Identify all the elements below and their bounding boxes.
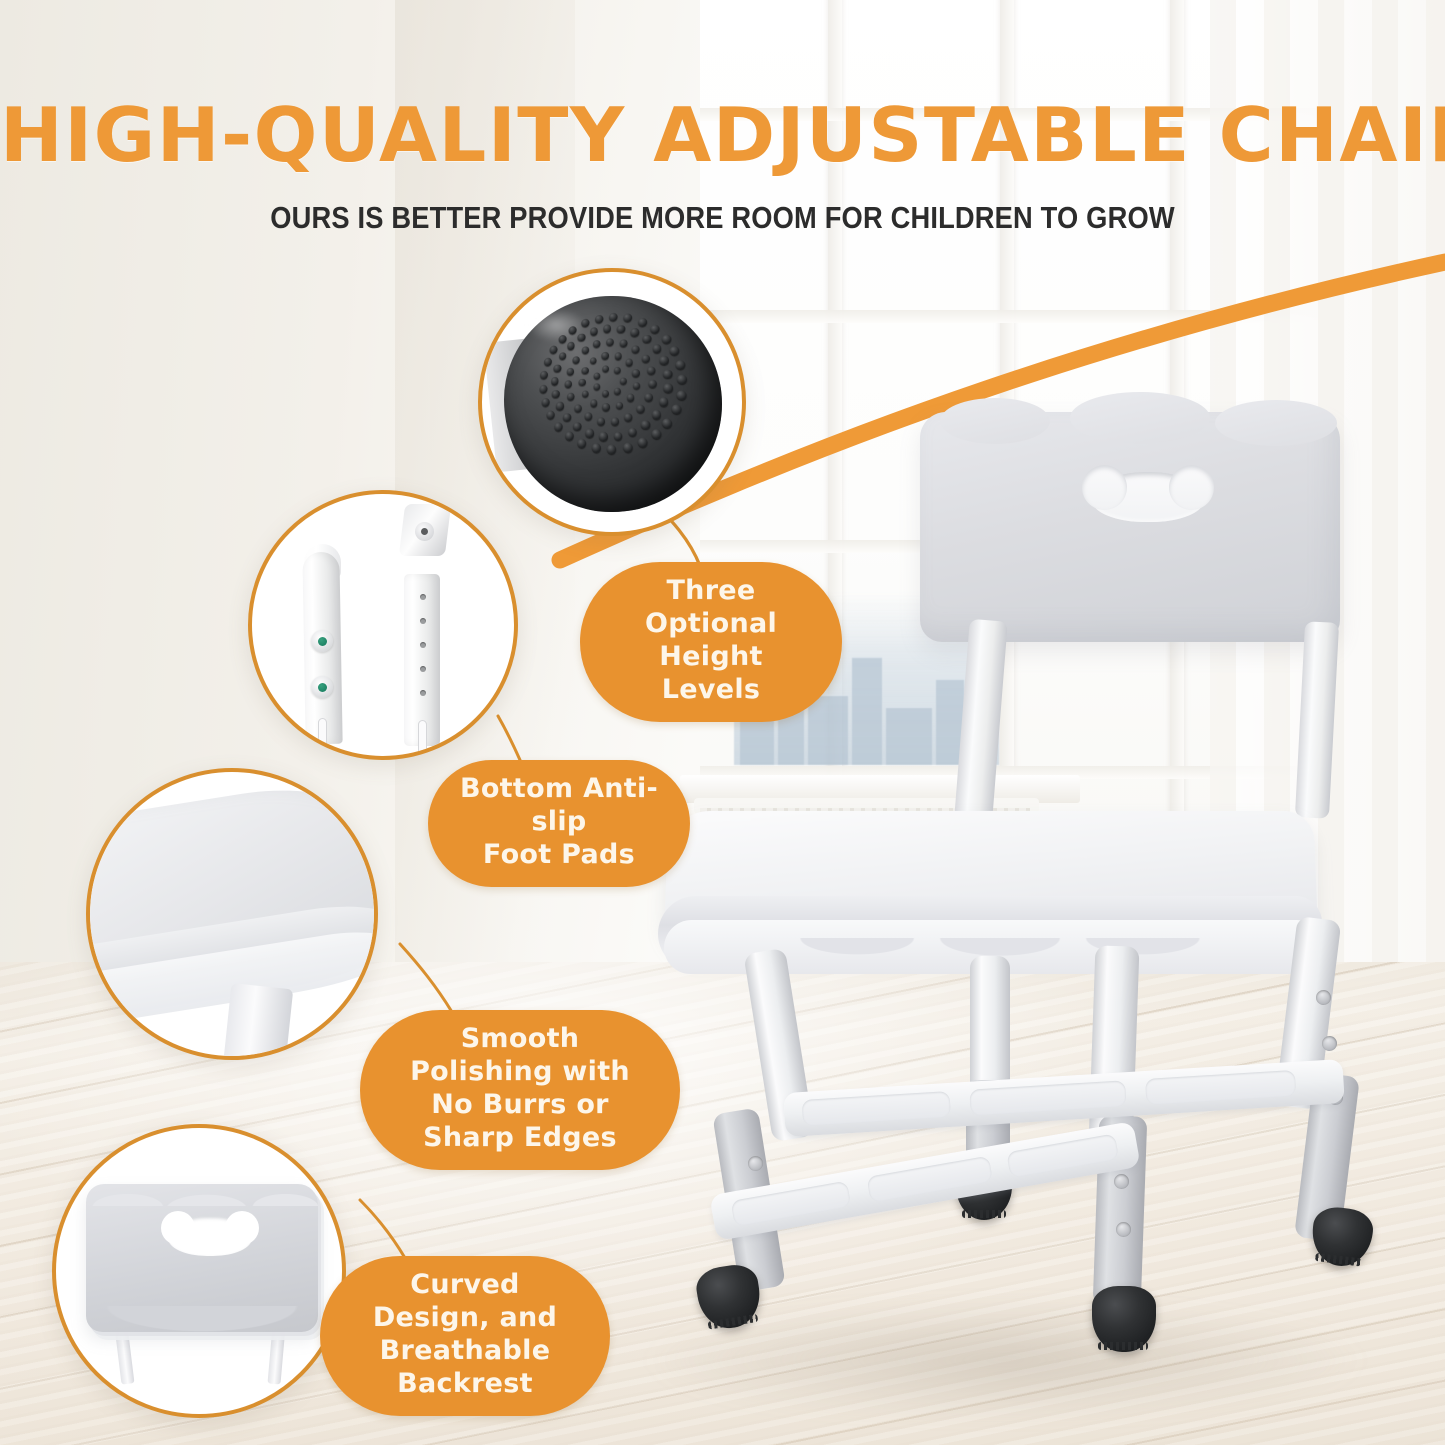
grip-dot [563, 413, 571, 421]
backrest-post-left [954, 619, 1008, 821]
grip-dot [675, 360, 685, 370]
product-chair [640, 390, 1430, 1430]
foot-pad-front-right [1092, 1286, 1156, 1352]
grip-dot [572, 356, 579, 364]
grip-dot [559, 352, 567, 360]
grip-dot [676, 390, 686, 400]
grip-dot [595, 314, 603, 323]
grip-dot [558, 335, 566, 344]
callout-curved-backrest[interactable]: Curved Design, and Breathable Backrest [320, 1256, 610, 1416]
grip-dot [651, 429, 661, 439]
grip-dot [593, 340, 601, 348]
grip-dot [624, 314, 633, 323]
grip-dot [642, 335, 651, 344]
grip-dot [616, 401, 624, 409]
grip-dot [619, 377, 626, 384]
grip-dot [614, 352, 621, 360]
grip-dot [614, 387, 621, 394]
grip-dot [566, 368, 573, 376]
grip-dot [652, 410, 661, 419]
detail-circle-foot-pad [478, 268, 746, 536]
grip-dot [567, 393, 575, 401]
grip-dot [630, 328, 639, 337]
grip-dot [647, 366, 656, 374]
grip-dot [597, 417, 605, 425]
grip-dot [603, 365, 610, 372]
grip-dot [671, 405, 681, 415]
grip-dot [660, 356, 669, 365]
grip-dot [578, 439, 587, 449]
grip-dot [590, 357, 597, 364]
grip-dot [661, 334, 671, 343]
cross-rail-back [783, 1059, 1345, 1137]
grip-dot [628, 428, 637, 437]
grip-dot [567, 342, 575, 350]
grip-dot [555, 422, 564, 431]
grip-dot [636, 405, 644, 413]
cross-rail-front [709, 1121, 1140, 1241]
grip-dot [641, 420, 650, 429]
grip-dot [581, 319, 589, 328]
grip-dot [565, 380, 572, 388]
grip-dot [652, 344, 661, 353]
grip-dot [623, 443, 632, 453]
grip-dot [606, 338, 614, 346]
grip-dot [663, 418, 673, 428]
grip-dot [625, 413, 633, 421]
edge-leg [221, 983, 294, 1056]
grip-dot [550, 346, 558, 355]
grip-dot [632, 369, 640, 377]
grip-dot [579, 379, 586, 386]
chair-backrest [920, 412, 1340, 642]
grip-dot [556, 402, 564, 410]
grip-dot [581, 347, 588, 355]
backrest-cutout-closeup [168, 1216, 252, 1256]
grip-dot [541, 398, 549, 407]
callout-anti-slip-pads[interactable]: Bottom Anti-slip Foot Pads [428, 760, 690, 887]
tube-slot-left [318, 718, 327, 756]
grip-dot [593, 383, 600, 390]
grip-dot [638, 318, 647, 327]
grip-dot [632, 345, 640, 353]
grip-dot [593, 372, 600, 379]
adjust-pin-lower [311, 676, 333, 698]
backrest-cutout [1092, 472, 1204, 522]
grip-dot [627, 394, 635, 402]
grip-dot [638, 437, 648, 447]
grip-dot [648, 380, 657, 388]
grip-dot [578, 333, 586, 341]
grip-dot [678, 375, 688, 385]
grip-dot [602, 390, 609, 397]
grip-dot [602, 352, 609, 360]
grip-dot [663, 384, 672, 393]
grip-dot [573, 422, 581, 431]
grip-dot [574, 404, 582, 412]
grip-dot [659, 397, 668, 406]
grip-dot [625, 359, 633, 367]
grip-dot [543, 358, 551, 367]
detail-circle-height-adjust [248, 490, 518, 760]
foot-pad-back-right [1309, 1205, 1376, 1270]
grip-dot [644, 393, 653, 401]
callout-smooth-polishing[interactable]: Smooth Polishing with No Burrs or Sharp … [360, 1010, 680, 1170]
bracket-screw [415, 522, 434, 541]
callout-height-levels[interactable]: Three Optional Height Levels [580, 562, 842, 722]
grip-dot [670, 346, 680, 356]
grip-dot [590, 399, 597, 407]
grip-dot [617, 325, 625, 334]
grip-dot [584, 412, 592, 420]
grip-dot [547, 411, 555, 420]
grip-dot [607, 445, 616, 455]
grip-dot [582, 390, 589, 398]
page-title: HIGH-QUALITY ADJUSTABLE CHAIR [0, 98, 1445, 173]
grip-dot [590, 327, 598, 335]
tube-slot-right [418, 720, 427, 756]
grip-dot [603, 324, 611, 333]
grip-dot [663, 369, 672, 378]
grip-dot [551, 377, 559, 385]
grip-dot [539, 385, 547, 394]
backrest-post-right [1295, 621, 1339, 819]
detail-circle-smooth-edge [86, 768, 378, 1060]
grip-dot [569, 326, 577, 335]
grip-dot [620, 339, 628, 347]
grip-dot [552, 390, 560, 398]
grip-dot [553, 364, 561, 372]
detail-circle-backrest [52, 1124, 346, 1418]
grip-dot [650, 325, 659, 334]
grip-dot [585, 429, 593, 438]
grip-dot [611, 417, 619, 425]
grip-dot [592, 443, 601, 453]
grip-dot [599, 432, 608, 441]
grip-dot [565, 432, 574, 441]
adjust-pin-upper [311, 630, 333, 652]
grip-dot [614, 432, 623, 441]
grip-dot [540, 371, 548, 380]
grip-dot [582, 367, 589, 374]
grip-dot [603, 403, 610, 411]
grip-dot [633, 382, 641, 390]
grip-dot [614, 367, 621, 374]
grip-dot [641, 354, 649, 362]
infographic-canvas: HIGH-QUALITY ADJUSTABLE CHAIR OURS IS BE… [0, 0, 1445, 1445]
foot-pad-front-left [694, 1262, 765, 1333]
grip-dot [609, 312, 618, 321]
page-subtitle: OURS IS BETTER PROVIDE MORE ROOM FOR CHI… [87, 200, 1359, 236]
